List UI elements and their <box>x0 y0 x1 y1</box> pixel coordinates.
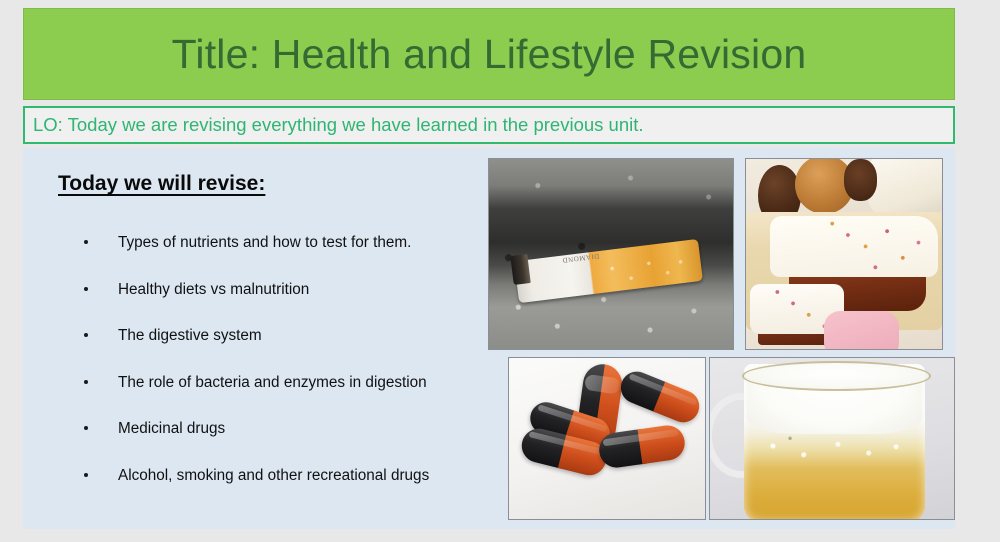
glass-rim <box>742 361 931 391</box>
list-item-label: Medicinal drugs <box>118 420 225 438</box>
list-item: Types of nutrients and how to test for t… <box>23 234 473 281</box>
bullet-icon <box>84 240 88 244</box>
learning-objective-text: LO: Today we are revising everything we … <box>25 114 644 136</box>
list-item-label: The role of bacteria and enzymes in dige… <box>118 374 427 392</box>
list-item-label: Types of nutrients and how to test for t… <box>118 234 411 252</box>
frosted-pastry-photo <box>745 158 943 350</box>
pastry-photo-content <box>746 159 942 349</box>
cigarette-butt-photo: DIAMOND <box>488 158 734 350</box>
page-title: Title: Health and Lifestyle Revision <box>172 34 807 75</box>
bullet-icon <box>84 333 88 337</box>
marshmallow-pink <box>824 311 898 350</box>
bullet-icon <box>84 287 88 291</box>
image-grid: DIAMOND <box>485 148 955 529</box>
bullet-icon <box>84 426 88 430</box>
learning-objective-bar: LO: Today we are revising everything we … <box>23 106 955 144</box>
list-item: The role of bacteria and enzymes in dige… <box>23 374 473 421</box>
presentation-slide: Title: Health and Lifestyle Revision LO:… <box>23 8 955 529</box>
cigarette-photo-content: DIAMOND <box>489 159 733 349</box>
revision-topics-list: Types of nutrients and how to test for t… <box>23 234 473 513</box>
beer-photo-content <box>710 358 954 519</box>
revise-heading: Today we will revise: <box>58 172 265 196</box>
bullet-icon <box>84 473 88 477</box>
medicine-capsules-photo <box>508 357 706 520</box>
bullet-icon <box>84 380 88 384</box>
list-item: The digestive system <box>23 327 473 374</box>
list-item: Medicinal drugs <box>23 420 473 467</box>
content-left-column: Today we will revise: Types of nutrients… <box>23 148 473 529</box>
beer-bubbles <box>749 432 920 467</box>
capsules-photo-content <box>509 358 705 519</box>
slide-title-bar: Title: Health and Lifestyle Revision <box>23 8 955 100</box>
list-item: Healthy diets vs malnutrition <box>23 281 473 328</box>
list-item-label: The digestive system <box>118 327 262 345</box>
list-item-label: Alcohol, smoking and other recreational … <box>118 467 429 485</box>
beer-mug-photo <box>709 357 955 520</box>
list-item-label: Healthy diets vs malnutrition <box>118 281 309 299</box>
list-item: Alcohol, smoking and other recreational … <box>23 467 473 514</box>
burnt-tip <box>510 254 530 284</box>
slide-body: Today we will revise: Types of nutrients… <box>23 148 955 529</box>
